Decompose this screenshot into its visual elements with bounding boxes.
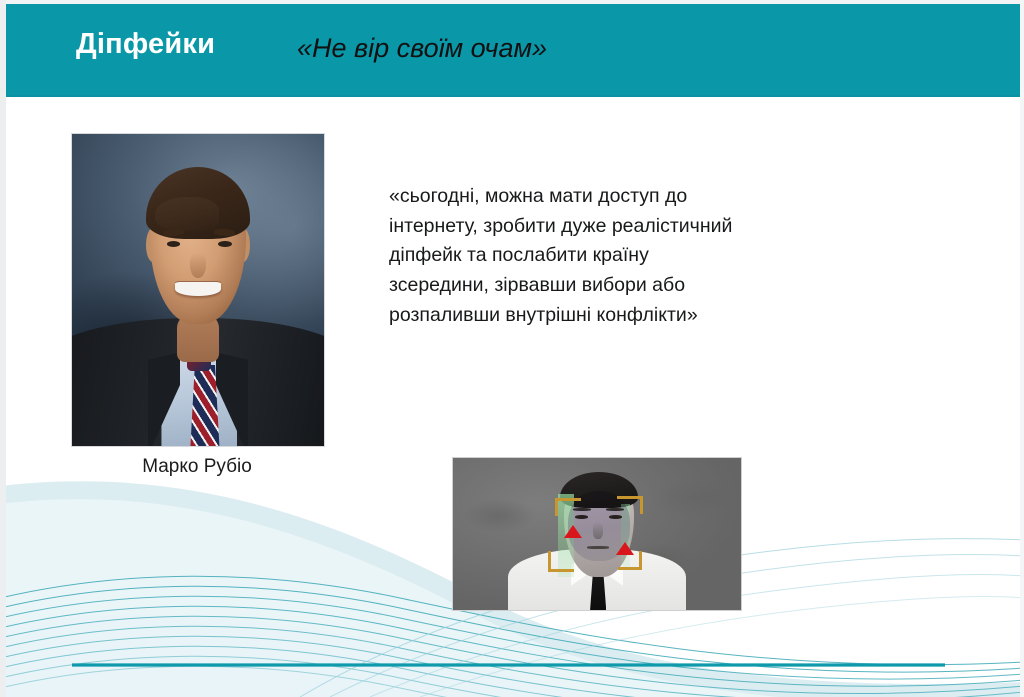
quote-line: інтернету, зробити дуже реалістичний xyxy=(389,212,819,242)
quote-text: «сьогодні, можна мати доступ до інтернет… xyxy=(389,182,819,330)
face-bracket-bottom-left-icon xyxy=(548,551,574,572)
quote-line: зсередини, зірвавши вибори або xyxy=(389,271,819,301)
detection-marker-triangle-icon xyxy=(564,525,582,538)
portrait-photo xyxy=(71,133,325,447)
face-bracket-top-left-icon xyxy=(555,498,581,516)
quote-line: розпаливши внутрішні конфлікти» xyxy=(389,301,819,331)
page-title: Діпфейки xyxy=(76,28,215,61)
page-edge-right xyxy=(1020,0,1024,697)
quote-line: діпфейк та послабити країну xyxy=(389,241,819,271)
deepfake-eye-right xyxy=(609,515,622,519)
quote-line: «сьогодні, можна мати доступ до xyxy=(389,182,819,212)
slide: Діпфейки «Не вір своїм очам» Марко Рубіо… xyxy=(0,0,1024,697)
face-bracket-top-right-icon xyxy=(617,496,643,514)
deepfake-nose xyxy=(593,522,603,539)
deepfake-mouth xyxy=(587,546,609,549)
portrait-smile xyxy=(175,282,220,296)
page-edge-left xyxy=(0,0,6,697)
portrait-caption: Марко Рубіо xyxy=(71,456,323,478)
portrait-nose xyxy=(190,253,205,278)
slide-subtitle: «Не вір своїм очам» xyxy=(297,33,547,64)
deepfake-detection-image xyxy=(452,457,742,611)
detection-marker-triangle-icon xyxy=(616,542,634,555)
